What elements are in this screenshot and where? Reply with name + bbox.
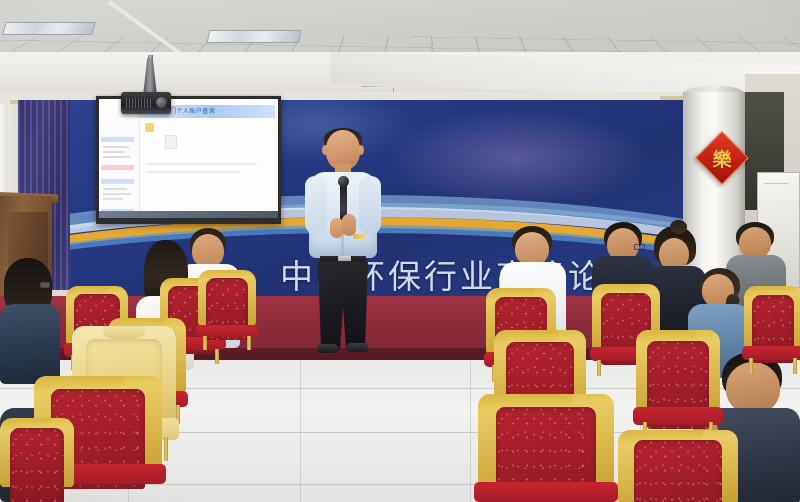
person-head [192,234,224,268]
chair-back-notch [761,286,784,295]
chair-leg [793,358,797,373]
chair-back-notch [72,376,123,390]
chair-back-notch [103,326,145,340]
whiteboard-mark [764,183,788,184]
person-head [515,232,549,266]
presenter-hand [342,214,356,236]
chair-back-notch [22,418,52,428]
person-torso [0,304,60,384]
chair-seat [474,482,618,502]
presenter-speaker [300,130,386,358]
slide-sidebar-line [103,193,131,195]
presenter-ear [322,145,328,155]
presenter-ear [358,145,364,155]
slide-sidebar-line [103,151,125,153]
presenter-shoe [346,343,368,352]
decoration-character: 樂 [704,140,740,176]
eyeglasses-icon [40,282,50,288]
chair[interactable] [636,330,720,440]
chair-back-notch [522,330,559,343]
audience-person [0,258,64,382]
chair-leg [215,349,219,364]
chair[interactable] [744,286,800,372]
projector-vent [126,98,152,108]
chair[interactable] [198,270,256,348]
chair[interactable] [618,430,738,502]
chair[interactable] [0,418,74,502]
slide-sidebar-line [103,146,129,148]
chair-leg [247,336,251,350]
chair-leg [749,358,753,373]
presenter-trousers [318,261,368,349]
slide-sidebar-header [101,179,134,184]
presenter-arm [305,176,327,234]
slide-sidebar-line [103,156,130,158]
projector-icon [121,92,171,114]
chair-upholstery [10,428,65,502]
ceiling-light-panel [2,22,96,35]
projection-screen: 天阳智门个人账户查询 [96,96,281,224]
slide-sidebar-line [103,188,127,190]
slide-content-block [165,135,177,149]
slide-body-line [147,171,239,173]
chair[interactable] [478,394,614,502]
slide-footer-bar [99,211,278,218]
ceiling-light-panel [206,30,301,43]
slide-logo-icon [145,123,154,132]
chair-upholstery [634,440,723,502]
slide-sidebar-header [101,137,134,142]
chair-leg [203,336,207,350]
slide-sidebar-header [101,165,134,170]
chair-back-notch [519,394,573,408]
projected-slide: 天阳智门个人账户查询 [99,99,278,218]
slide-body-line [147,163,257,165]
slide-sidebar-line [103,198,123,200]
conference-room-photo: 中国环保行业高峰论坛 天阳智门个人账户查询 [0,0,800,502]
presenter-wristwatch [353,234,365,239]
floor-tile-line [470,360,471,502]
presenter-arm [359,176,381,234]
presenter-shoe [317,344,339,353]
chair-leg [597,360,601,376]
person-hair-bun [670,220,687,234]
chair-leg [164,437,168,461]
floor-tile-line [300,360,301,502]
